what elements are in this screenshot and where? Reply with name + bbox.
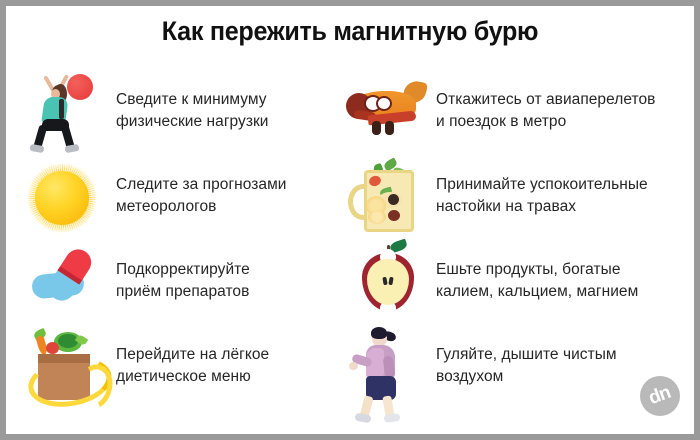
pills-capsules-icon: [24, 239, 116, 323]
tip-line-1: Ешьте продукты, богатые: [436, 259, 638, 281]
tip-text: Перейдите на лёгкое диетическое меню: [116, 344, 269, 388]
tip-text: Гуляйте, дышите чистым воздухом: [436, 344, 617, 388]
tip-line-1: Гуляйте, дышите чистым: [436, 344, 617, 366]
tip-item: Следите за прогнозами метеорологов: [24, 153, 354, 238]
exercising-woman-icon: [24, 69, 116, 153]
tip-item: Сведите к минимуму физические нагрузки: [24, 68, 354, 153]
tip-line-2: метеорологов: [116, 196, 287, 218]
sun-icon: [24, 154, 116, 238]
tip-line-2: настойки на травах: [436, 196, 648, 218]
tip-line-2: калием, кальцием, магнием: [436, 281, 638, 303]
tip-text: Следите за прогнозами метеорологов: [116, 174, 287, 218]
tip-line-1: Перейдите на лёгкое: [116, 344, 269, 366]
watermark-badge: dn: [640, 376, 680, 416]
tip-item: Откажитесь от авиаперелетов и поездок в …: [344, 68, 674, 153]
watermark-label: dn: [646, 382, 673, 410]
tip-item: Гуляйте, дышите чистым воздухом: [344, 323, 674, 408]
tip-line-2: и поездок в метро: [436, 111, 655, 133]
tip-text: Ешьте продукты, богатые калием, кальцием…: [436, 259, 638, 303]
infographic-poster: Как пережить магнитную бурю Сведите: [6, 6, 694, 434]
tip-line-2: приём препаратов: [116, 281, 250, 303]
tip-line-2: диетическое меню: [116, 366, 269, 388]
tip-item: Подкорректируйте приём препаратов: [24, 238, 354, 323]
tip-line-2: физические нагрузки: [116, 111, 269, 133]
tip-line-1: Подкорректируйте: [116, 259, 250, 281]
tip-line-2: воздухом: [436, 366, 617, 388]
tip-line-1: Сведите к минимуму: [116, 89, 269, 111]
tips-column-right: Откажитесь от авиаперелетов и поездок в …: [344, 68, 674, 408]
airplane-icon: [344, 69, 436, 153]
tip-line-1: Следите за прогнозами: [116, 174, 287, 196]
tip-text: Подкорректируйте приём препаратов: [116, 259, 250, 303]
apple-half-icon: [344, 239, 436, 323]
tip-item: Ешьте продукты, богатые калием, кальцием…: [344, 238, 674, 323]
tip-text: Принимайте успокоительные настойки на тр…: [436, 174, 648, 218]
tip-item: Перейдите на лёгкое диетическое меню: [24, 323, 354, 408]
grocery-bag-measuring-tape-icon: [24, 324, 116, 408]
walking-woman-icon: [344, 324, 436, 408]
tip-line-1: Откажитесь от авиаперелетов: [436, 89, 655, 111]
tip-item: Принимайте успокоительные настойки на тр…: [344, 153, 674, 238]
tips-column-left: Сведите к минимуму физические нагрузки С…: [24, 68, 354, 408]
tip-text: Сведите к минимуму физические нагрузки: [116, 89, 269, 133]
page-title: Как пережить магнитную бурю: [30, 16, 670, 47]
tip-line-1: Принимайте успокоительные: [436, 174, 648, 196]
herbal-tea-mug-icon: [344, 154, 436, 238]
tip-text: Откажитесь от авиаперелетов и поездок в …: [436, 89, 655, 133]
